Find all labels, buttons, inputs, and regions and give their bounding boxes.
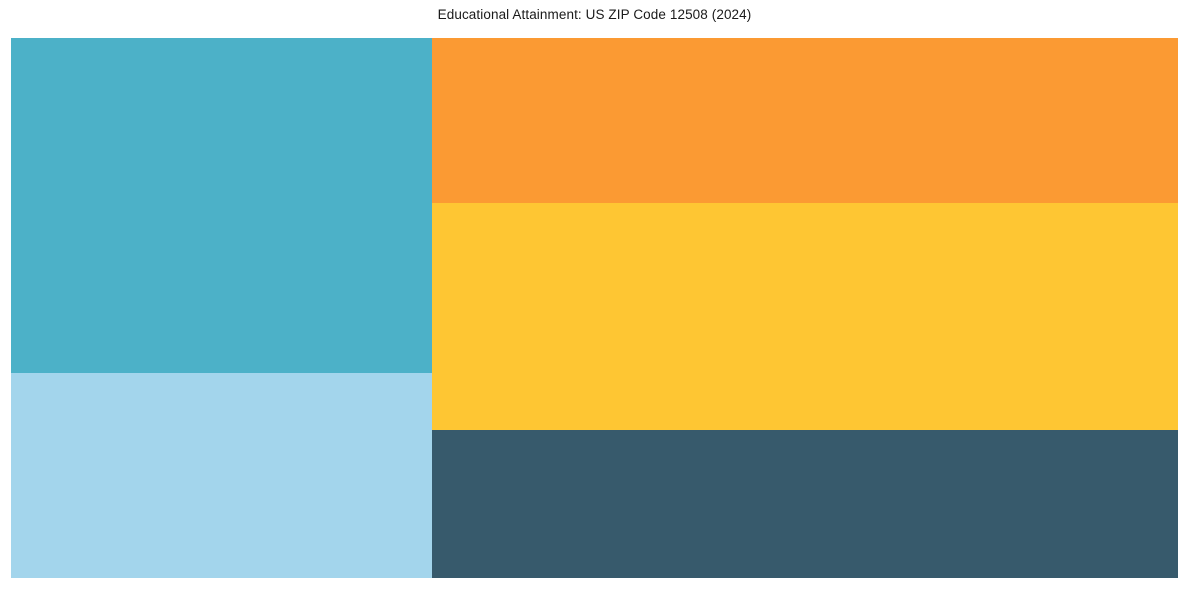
treemap-tile-high-school-graduate[interactable]: High school graduate — [432, 38, 1178, 203]
treemap-tile-graduate-or-professional-degree[interactable]: Graduate or professional degree — [432, 203, 1178, 430]
treemap-tile-some-college-or-associates-degree[interactable]: Some college or associate's degree — [11, 373, 432, 578]
treemap-figure: Educational Attainment: US ZIP Code 1250… — [0, 0, 1189, 590]
treemap-tile-less-than-high-school[interactable]: Less than high school — [432, 430, 1178, 578]
chart-title: Educational Attainment: US ZIP Code 1250… — [0, 7, 1189, 22]
treemap-plot-area: Bachelor's degree Some college or associ… — [11, 38, 1178, 578]
treemap-column-left: Bachelor's degree Some college or associ… — [11, 38, 432, 578]
treemap-column-right: High school graduate Graduate or profess… — [432, 38, 1178, 578]
treemap-tile-bachelors-degree[interactable]: Bachelor's degree — [11, 38, 432, 373]
